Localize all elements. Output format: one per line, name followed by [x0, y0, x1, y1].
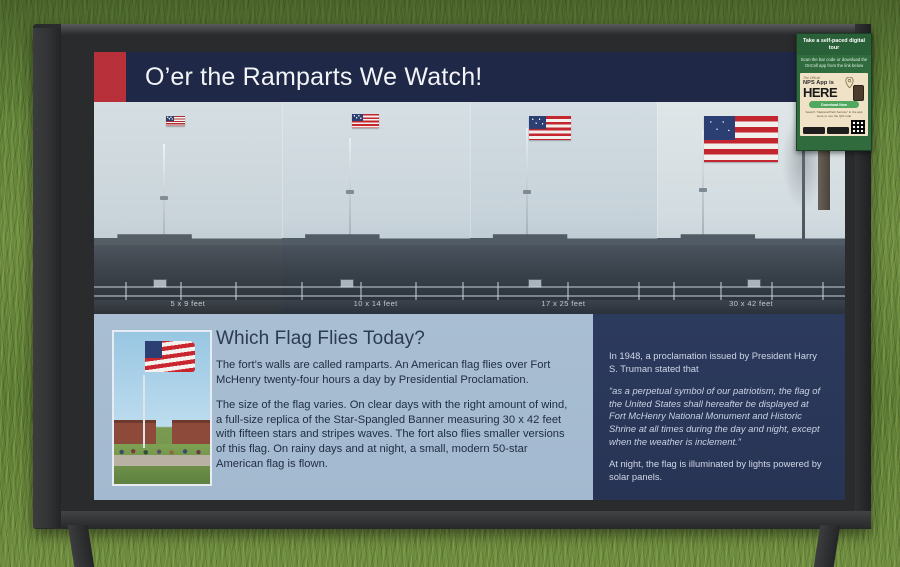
- frame-left-edge: [33, 28, 61, 528]
- left-copy: Which Flag Flies Today? The fort’s walls…: [216, 328, 593, 500]
- photo-size-label-4: 30 x 42 feet: [657, 299, 845, 308]
- panel-lower: Which Flag Flies Today? The fort’s walls…: [94, 314, 845, 500]
- self-paced-tour-sign[interactable]: Take a self-paced digital tour Scan the …: [796, 33, 872, 151]
- photo-size-label-2: 10 x 14 feet: [282, 299, 470, 308]
- night-illumination-note: At night, the flag is illuminated by lig…: [609, 458, 825, 483]
- photo-cell-2: 10 x 14 feet: [282, 102, 470, 314]
- truman-quote: “as a perpetual symbol of our patriotism…: [609, 385, 825, 448]
- left-text-panel: Which Flag Flies Today? The fort’s walls…: [94, 314, 593, 500]
- header-accent-block: [94, 52, 126, 102]
- historic-photo-strip: 5 x 9 feet: [94, 102, 845, 314]
- frame-top-bevel: [61, 24, 871, 35]
- panel-header: O’er the Ramparts We Watch!: [94, 52, 845, 102]
- right-text-panel: In 1948, a proclamation issued by Presid…: [593, 314, 845, 500]
- thumbnail-column: [94, 328, 216, 500]
- photo-size-label-1: 5 x 9 feet: [94, 299, 282, 308]
- frame-bottom-bevel: [61, 511, 871, 529]
- app-store-badge[interactable]: [803, 127, 825, 134]
- section-heading: Which Flag Flies Today?: [216, 328, 571, 350]
- phone-icon: [853, 85, 864, 101]
- paragraph-1: The fort’s walls are called ramparts. An…: [216, 358, 571, 387]
- outdoor-scene: O’er the Ramparts We Watch!: [0, 0, 900, 567]
- flag-4-star-spangled-banner: [704, 116, 778, 162]
- tour-sign-subhead: Scan the bar code or download the OnCell…: [797, 55, 871, 73]
- page-title: O’er the Ramparts We Watch!: [145, 63, 482, 92]
- app-store-badges[interactable]: [803, 120, 865, 134]
- wayside-sign: O’er the Ramparts We Watch!: [33, 24, 871, 529]
- flag-3: [529, 116, 571, 140]
- flag-1: [166, 116, 185, 126]
- photo-cell-1: 5 x 9 feet: [94, 102, 282, 314]
- photo-cell-3: 17 x 25 feet: [470, 102, 658, 314]
- truman-intro: In 1948, a proclamation issued by Presid…: [609, 350, 825, 375]
- download-now-button[interactable]: Download Now: [809, 101, 859, 108]
- sign-panel: O’er the Ramparts We Watch!: [94, 52, 845, 500]
- flag-2: [352, 114, 379, 128]
- qr-code-icon[interactable]: [851, 120, 865, 134]
- google-play-badge[interactable]: [827, 127, 849, 134]
- photo-size-label-3: 17 x 25 feet: [470, 299, 658, 308]
- tour-sign-headline: Take a self-paced digital tour: [797, 34, 871, 55]
- tour-sign-post: [818, 150, 830, 210]
- card-search-note: Search “National Park Service” in the ap…: [803, 110, 865, 118]
- paragraph-2: The size of the flag varies. On clear da…: [216, 398, 571, 471]
- map-pin-icon: [845, 75, 854, 86]
- nps-app-card: The Official NPS App is HERE Download No…: [800, 73, 868, 136]
- fort-mchenry-photo: [112, 330, 212, 486]
